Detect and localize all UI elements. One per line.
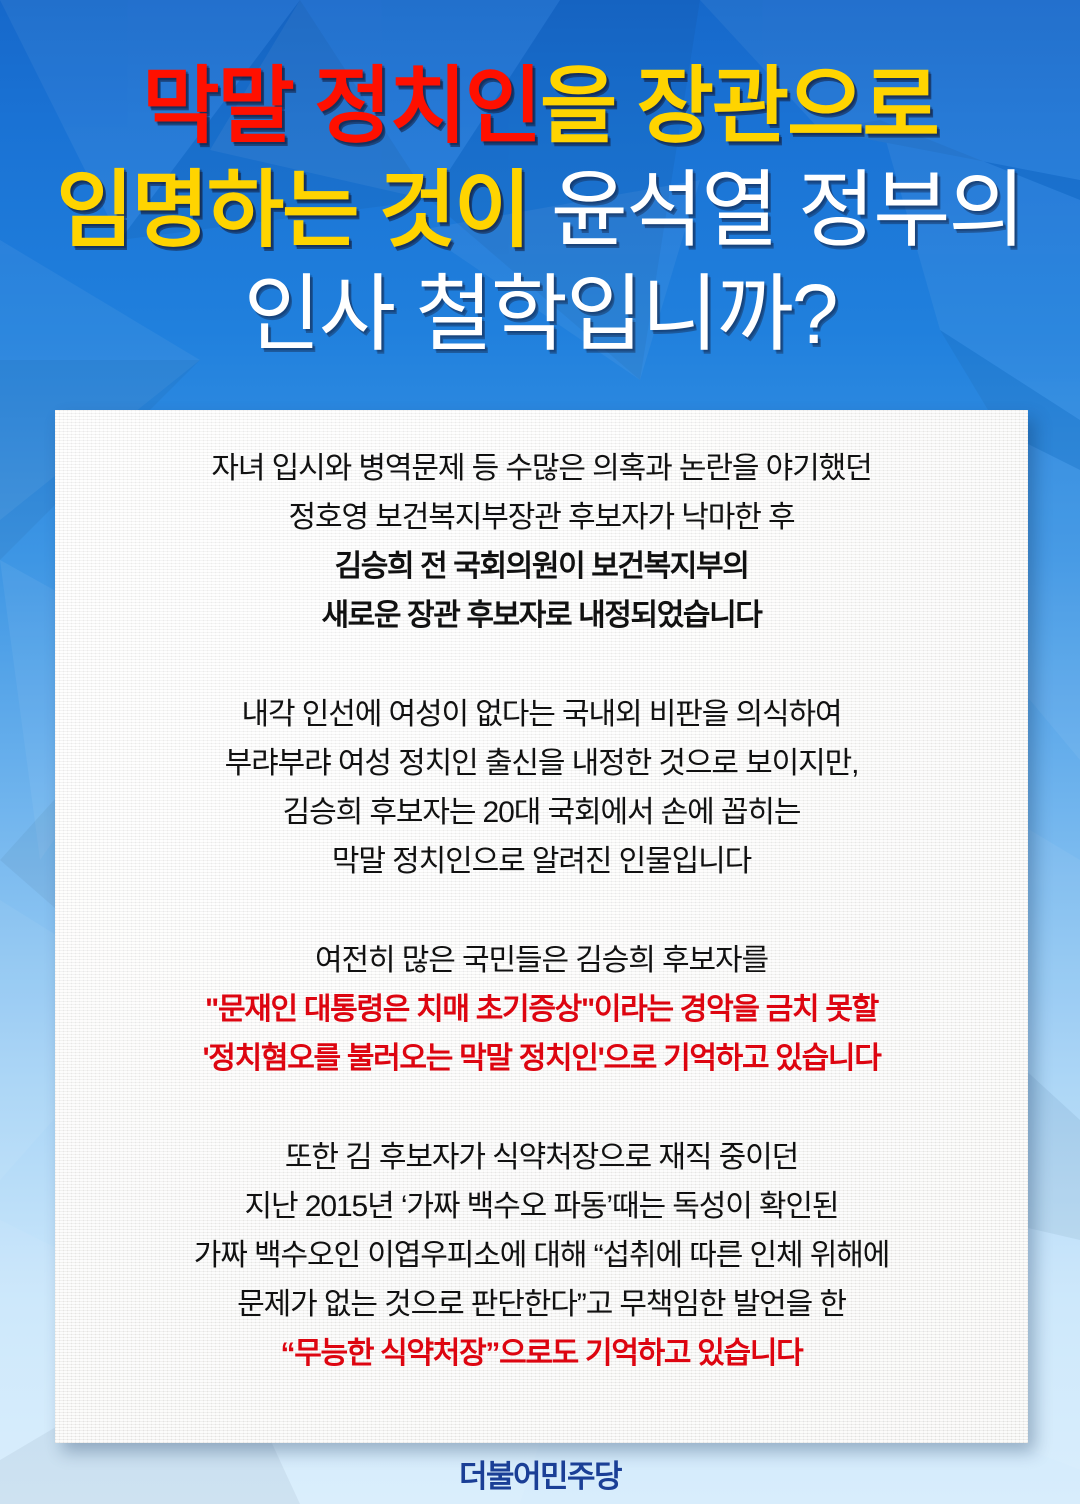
paragraph-4-line-4: 문제가 없는 것으로 판단한다”고 무책임한 발언을 한 bbox=[81, 1280, 1002, 1329]
body-card: 자녀 입시와 병역문제 등 수많은 의혹과 논란을 야기했던 정호영 보건복지부… bbox=[55, 410, 1028, 1443]
paragraph-3-line-2: "문재인 대통령은 치매 초기증상"이라는 경악을 금치 못할 bbox=[81, 985, 1002, 1034]
paragraph-4-line-1: 또한 김 후보자가 식약처장으로 재직 중이던 bbox=[81, 1133, 1002, 1182]
headline-line-2-yellow: 임명하는 것이 bbox=[56, 163, 529, 257]
headline-line-1-red: 막말 정치인 bbox=[142, 59, 540, 153]
paragraph-3-line-1: 여전히 많은 국민들은 김승희 후보자를 bbox=[81, 936, 1002, 985]
headline-line-1: 막말 정치인을 장관으로 bbox=[0, 54, 1080, 158]
paragraph-2-line-1: 내각 인선에 여성이 없다는 국내외 비판을 의식하여 bbox=[81, 690, 1002, 739]
headline-line-2-white: 윤석열 정부의 bbox=[529, 163, 1023, 257]
paragraph-1: 자녀 입시와 병역문제 등 수많은 의혹과 논란을 야기했던 정호영 보건복지부… bbox=[81, 444, 1002, 640]
paragraph-1-line-2: 정호영 보건복지부장관 후보자가 낙마한 후 bbox=[81, 493, 1002, 542]
paragraph-2-line-3: 김승희 후보자는 20대 국회에서 손에 꼽히는 bbox=[81, 788, 1002, 837]
footer: 더불어민주당 bbox=[0, 1443, 1080, 1504]
paragraph-3: 여전히 많은 국민들은 김승희 후보자를 "문재인 대통령은 치매 초기증상"이… bbox=[81, 936, 1002, 1083]
poster-root: 막말 정치인을 장관으로 임명하는 것이 윤석열 정부의 인사 철학입니까? 자… bbox=[0, 0, 1080, 1504]
headline-line-3: 인사 철학입니까? bbox=[0, 262, 1080, 366]
headline-line-1-yellow: 을 장관으로 bbox=[540, 59, 938, 153]
party-logo: 더불어민주당 bbox=[459, 1451, 621, 1496]
headline: 막말 정치인을 장관으로 임명하는 것이 윤석열 정부의 인사 철학입니까? bbox=[0, 54, 1080, 366]
paragraph-3-line-3: '정치혐오를 불러오는 막말 정치인'으로 기억하고 있습니다 bbox=[81, 1034, 1002, 1083]
paragraph-2: 내각 인선에 여성이 없다는 국내외 비판을 의식하여 부랴부랴 여성 정치인 … bbox=[81, 690, 1002, 886]
headline-line-3-white: 인사 철학입니까? bbox=[243, 267, 836, 361]
paragraph-2-line-2: 부랴부랴 여성 정치인 출신을 내정한 것으로 보이지만, bbox=[81, 739, 1002, 788]
paragraph-4: 또한 김 후보자가 식약처장으로 재직 중이던 지난 2015년 ‘가짜 백수오… bbox=[81, 1133, 1002, 1378]
paragraph-4-line-5: “무능한 식약처장”으로도 기억하고 있습니다 bbox=[81, 1329, 1002, 1378]
paragraph-1-line-4: 새로운 장관 후보자로 내정되었습니다 bbox=[81, 591, 1002, 640]
paragraph-2-line-4: 막말 정치인으로 알려진 인물입니다 bbox=[81, 837, 1002, 886]
paragraph-4-line-2: 지난 2015년 ‘가짜 백수오 파동’때는 독성이 확인된 bbox=[81, 1182, 1002, 1231]
paragraph-4-line-3: 가짜 백수오인 이엽우피소에 대해 “섭취에 따른 인체 위해에 bbox=[81, 1231, 1002, 1280]
paragraph-1-line-1: 자녀 입시와 병역문제 등 수많은 의혹과 논란을 야기했던 bbox=[81, 444, 1002, 493]
paragraph-1-line-3: 김승희 전 국회의원이 보건복지부의 bbox=[81, 542, 1002, 591]
headline-line-2: 임명하는 것이 윤석열 정부의 bbox=[0, 158, 1080, 262]
